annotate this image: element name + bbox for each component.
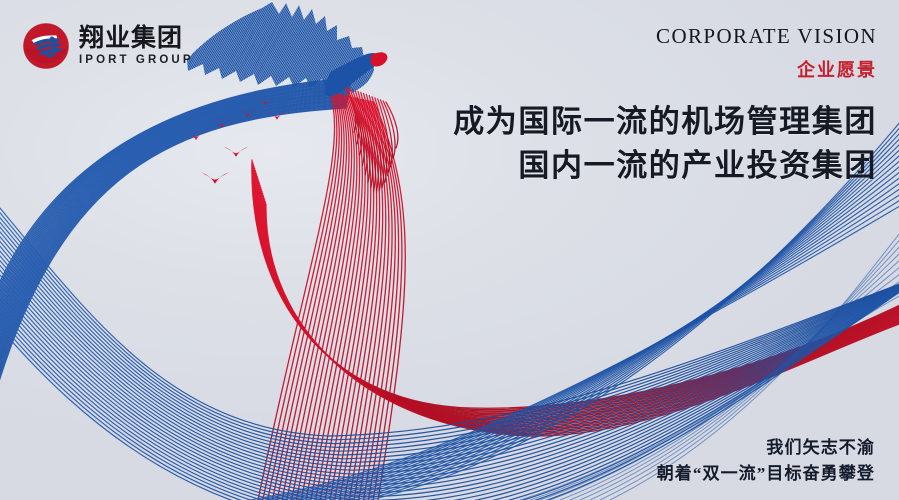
vision-statement: 成为国际一流的机场管理集团 国内一流的产业投资集团 bbox=[453, 100, 877, 188]
logo-english-name: IPORT GROUP bbox=[79, 55, 194, 67]
small-bird-icon bbox=[201, 172, 230, 184]
company-slogan: 我们矢志不渝 朝着“双一流”目标奋勇攀登 bbox=[657, 435, 875, 486]
small-bird-icon bbox=[223, 147, 248, 157]
flow-line bbox=[0, 80, 352, 307]
vision-english-title: CORPORATE VISION bbox=[656, 24, 877, 49]
iport-group-emblem-icon bbox=[22, 22, 70, 70]
corporate-vision-poster: 翔业集团 IPORT GROUP CORPORATE VISION 企业愿景 成… bbox=[0, 0, 899, 500]
vision-statement-line-1: 成为国际一流的机场管理集团 bbox=[453, 100, 877, 144]
vision-statement-line-2: 国内一流的产业投资集团 bbox=[453, 144, 877, 188]
logo-chinese-name: 翔业集团 bbox=[79, 26, 194, 51]
flow-line bbox=[0, 79, 352, 304]
slogan-line-1: 我们矢志不渝 bbox=[657, 435, 875, 461]
vision-chinese-title: 企业愿景 bbox=[656, 56, 877, 82]
slogan-line-2: 朝着“双一流”目标奋勇攀登 bbox=[657, 461, 875, 487]
company-logo[interactable]: 翔业集团 IPORT GROUP bbox=[22, 22, 194, 70]
logo-wordmark: 翔业集团 IPORT GROUP bbox=[79, 26, 194, 67]
corporate-vision-header: CORPORATE VISION 企业愿景 bbox=[656, 24, 877, 82]
